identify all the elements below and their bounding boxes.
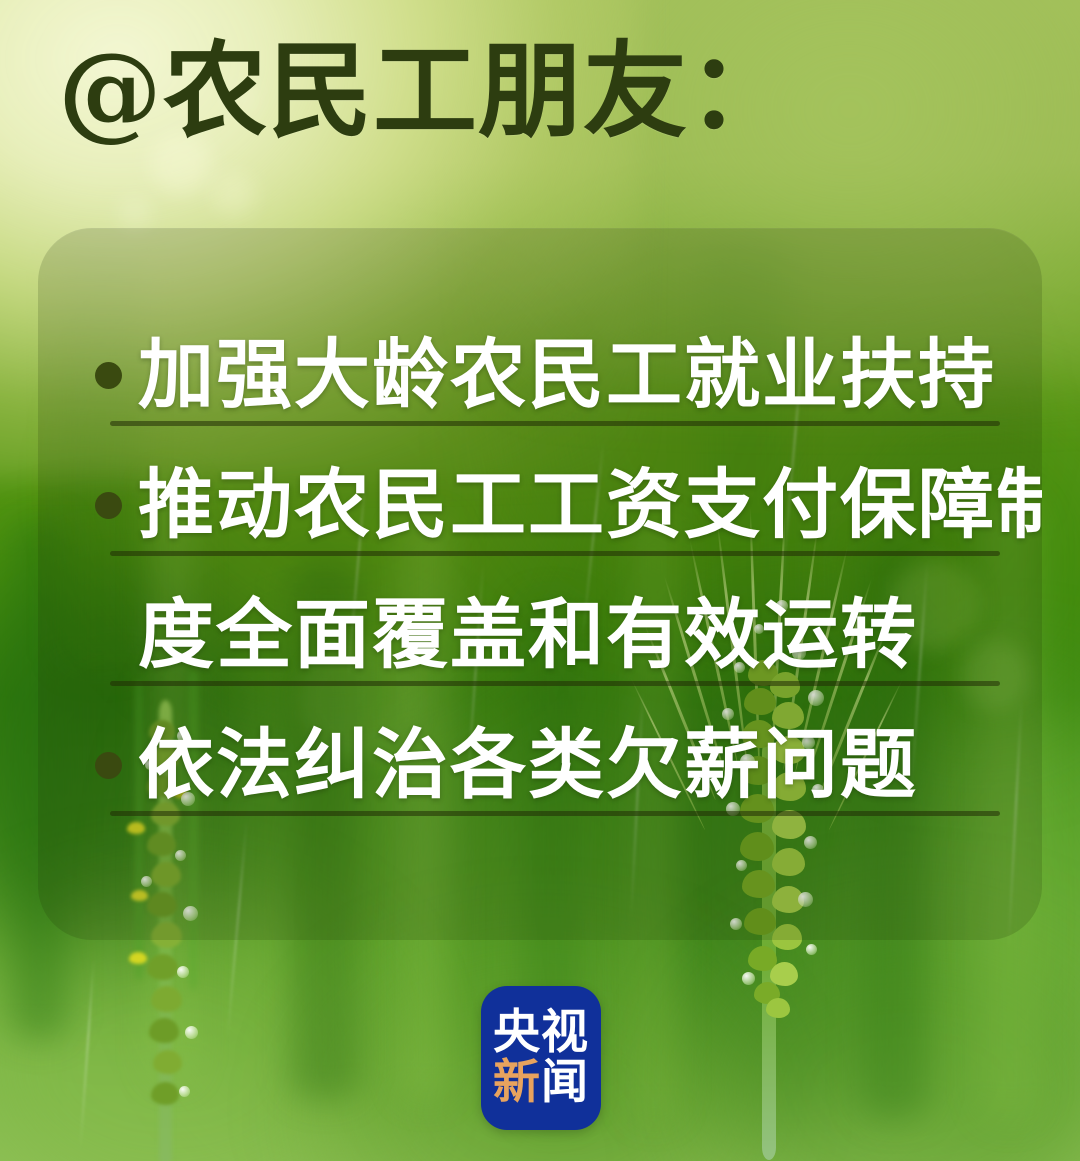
list-item-label: 度全面覆盖和有效运转 (138, 597, 918, 673)
logo-char-xin: 新 (493, 1055, 541, 1110)
list-divider (110, 421, 1000, 426)
poster-root: @农民工朋友： 加强大龄农民工就业扶持 推动农民工工资支付保障制 度全面覆盖和有… (0, 0, 1080, 1161)
list-item-label: 加强大龄农民工就业扶持 (138, 337, 996, 413)
logo-line-xinwen: 新闻 (493, 1058, 589, 1108)
content-panel: 加强大龄农民工就业扶持 推动农民工工资支付保障制 度全面覆盖和有效运转 依法纠治… (38, 228, 1042, 940)
list-divider (110, 811, 1000, 816)
list-divider (110, 681, 1000, 686)
cctv-news-logo: 央视 新闻 (481, 986, 601, 1130)
page-title: @农民工朋友： (58, 36, 793, 145)
policy-bullet-list: 加强大龄农民工就业扶持 推动农民工工资支付保障制 度全面覆盖和有效运转 依法纠治… (38, 228, 1042, 940)
logo-char-wen: 闻 (541, 1055, 589, 1110)
bullet-dot-icon (95, 492, 122, 519)
bullet-dot-icon (95, 752, 122, 779)
list-item-label: 依法纠治各类欠薪问题 (138, 727, 918, 803)
bullet-dot-icon (95, 362, 122, 389)
logo-line-yangshi: 央视 (493, 1008, 589, 1058)
content-panel-inner: 加强大龄农民工就业扶持 推动农民工工资支付保障制 度全面覆盖和有效运转 依法纠治… (38, 228, 1042, 940)
list-divider (110, 551, 1000, 556)
list-item-label: 推动农民工工资支付保障制 (138, 467, 1042, 543)
